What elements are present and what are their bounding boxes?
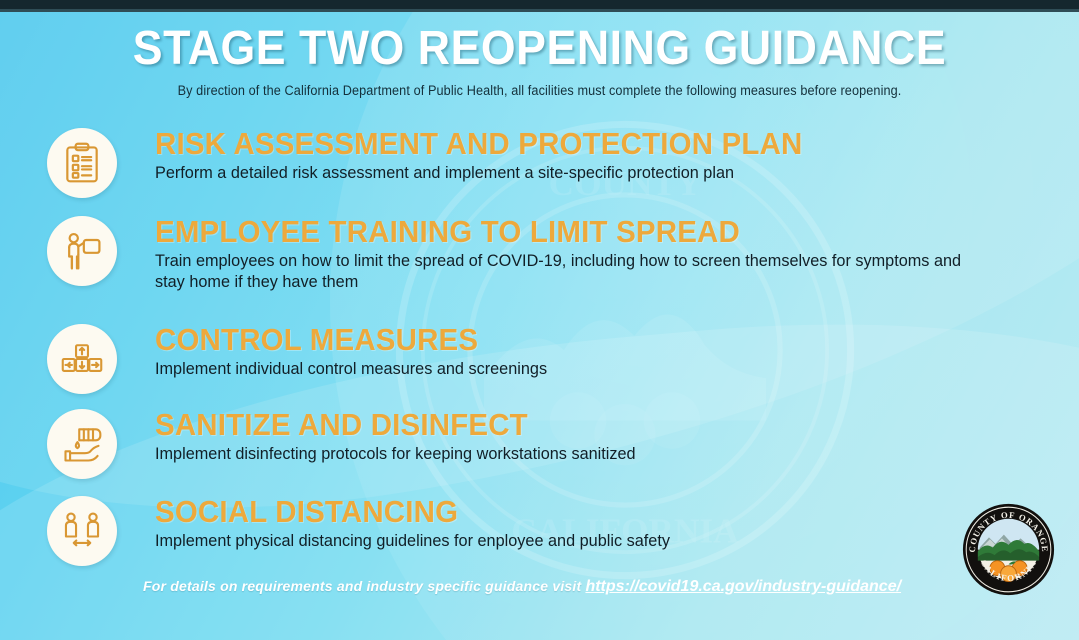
- item-heading: EMPLOYEE TRAINING TO LIMIT SPREAD: [155, 216, 934, 249]
- item-description: Train employees on how to limit the spre…: [155, 251, 963, 294]
- page-subtitle: By direction of the California Departmen…: [32, 83, 1046, 98]
- top-navy-bar: [0, 0, 1079, 9]
- item-description: Implement individual control measures an…: [155, 359, 547, 380]
- item-body: EMPLOYEE TRAINING TO LIMIT SPREAD Train …: [155, 216, 1005, 294]
- control-arrows-icon: [47, 324, 117, 394]
- employee-training-presentation-icon: [47, 216, 117, 286]
- page-title: STAGE TWO REOPENING GUIDANCE: [38, 24, 1041, 74]
- icon-slot: [47, 409, 117, 479]
- industry-guidance-link[interactable]: https://covid19.ca.gov/industry-guidance…: [585, 578, 901, 595]
- icon-slot: [47, 216, 117, 286]
- icon-slot: [47, 496, 117, 566]
- footer-text: For details on requirements and industry…: [143, 578, 585, 594]
- item-heading: CONTROL MEASURES: [155, 324, 533, 357]
- item-body: RISK ASSESSMENT AND PROTECTION PLAN Perf…: [155, 128, 867, 184]
- item-heading: SANITIZE AND DISINFECT: [155, 409, 619, 442]
- item-description: Implement disinfecting protocols for kee…: [155, 444, 636, 465]
- item-body: SANITIZE AND DISINFECT Implement disinfe…: [155, 409, 673, 465]
- list-item: CONTROL MEASURES Implement individual co…: [0, 324, 1079, 380]
- icon-slot: [47, 324, 117, 394]
- county-of-orange-seal: COUNTY OF ORANGE CALIFORNIA: [962, 503, 1055, 596]
- icon-slot: [47, 128, 117, 198]
- list-item: EMPLOYEE TRAINING TO LIMIT SPREAD Train …: [0, 216, 1079, 294]
- item-body: CONTROL MEASURES Implement individual co…: [155, 324, 583, 380]
- item-body: SOCIAL DISTANCING Implement physical dis…: [155, 496, 708, 552]
- item-description: Perform a detailed risk assessment and i…: [155, 163, 826, 184]
- clipboard-checklist-icon: [47, 128, 117, 198]
- list-item: RISK ASSESSMENT AND PROTECTION PLAN Perf…: [0, 128, 1079, 184]
- item-description: Implement physical distancing guidelines…: [155, 531, 670, 552]
- header: STAGE TWO REOPENING GUIDANCE By directio…: [0, 24, 1079, 98]
- footer: For details on requirements and industry…: [0, 578, 1079, 596]
- item-heading: RISK ASSESSMENT AND PROTECTION PLAN: [155, 128, 803, 161]
- infographic-poster: COUNTY CALIFORNIA STAGE TWO REOPENING GU…: [0, 0, 1079, 640]
- list-item: SOCIAL DISTANCING Implement physical dis…: [0, 496, 1079, 552]
- hand-sanitizer-icon: [47, 409, 117, 479]
- social-distancing-people-icon: [47, 496, 117, 566]
- item-heading: SOCIAL DISTANCING: [155, 496, 652, 529]
- top-accent-line: [0, 9, 1079, 12]
- list-item: SANITIZE AND DISINFECT Implement disinfe…: [0, 409, 1079, 465]
